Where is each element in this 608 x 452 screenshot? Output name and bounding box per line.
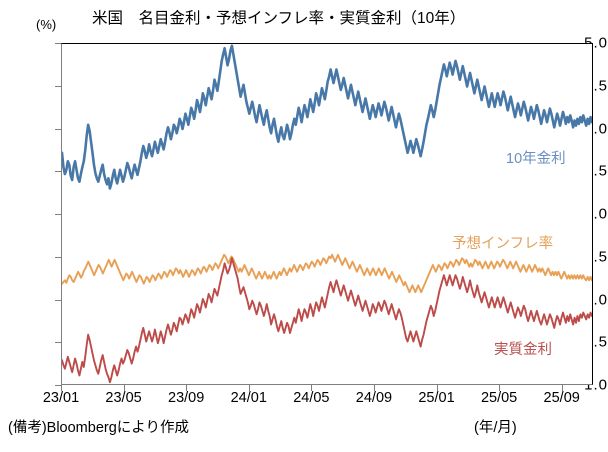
- x-tick-label: 25/09: [544, 390, 580, 406]
- x-tick-label: 25/05: [481, 390, 517, 406]
- x-tick-label: 25/01: [418, 390, 454, 406]
- x-axis-unit-label: (年/月): [474, 416, 517, 437]
- x-tick-label: 24/01: [231, 390, 267, 406]
- x-tick-label: 23/05: [105, 390, 141, 406]
- plot-area: [61, 43, 593, 385]
- series-line-breakeven: [62, 255, 592, 292]
- series-canvas: [62, 44, 592, 384]
- x-tick-label: 23/09: [168, 390, 204, 406]
- series-label-real: 実質金利: [494, 338, 552, 359]
- x-tick-label: 23/01: [43, 390, 79, 406]
- series-label-breakeven: 予想インフレ率: [452, 232, 553, 253]
- x-tick-label: 24/05: [293, 390, 329, 406]
- source-note: (備考)Bloombergにより作成: [8, 416, 189, 437]
- x-tick-label: 24/09: [356, 390, 392, 406]
- chart-figure: (%) 米国 名目金利・予想インフレ率・実質金利（10年） 5.04.54.03…: [0, 0, 608, 452]
- series-label-nominal: 10年金利: [506, 147, 566, 168]
- y-axis-unit-label: (%): [36, 17, 56, 32]
- chart-title: 米国 名目金利・予想インフレ率・実質金利（10年）: [92, 6, 465, 28]
